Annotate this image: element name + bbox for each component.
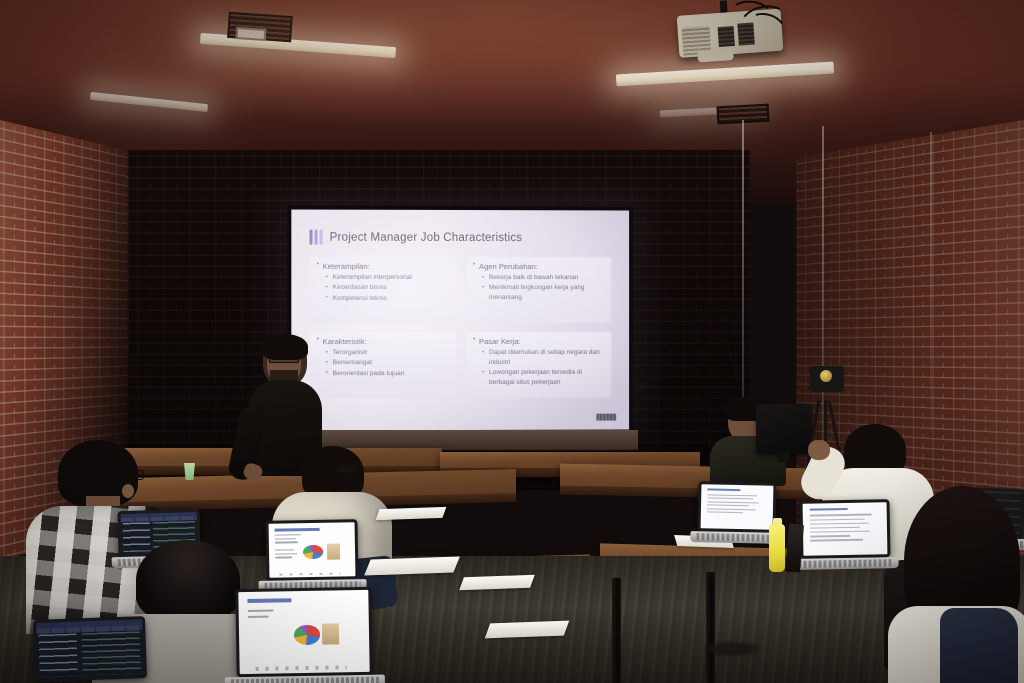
laptop-text-back-right[interactable] [697, 481, 776, 533]
stacked-papers [459, 575, 535, 590]
projector-lens-housing [697, 48, 734, 62]
slide-title: Project Manager Job Characteristics [330, 231, 523, 243]
yellow-drink-bottle [769, 524, 785, 572]
laptop-lid [800, 499, 891, 559]
slide-card-agen-perubahan: Agen Perubahan: Bekerja baik di bawah te… [466, 257, 611, 323]
card-bullet: Menikmati lingkungan kerja yang menantan… [482, 283, 604, 303]
card-bullet: Keterampilan interpersonal [326, 273, 449, 283]
card-heading: Agen Perubahan: [473, 262, 604, 271]
floor-cable [700, 640, 764, 658]
attendee-vest [940, 608, 1018, 683]
stacked-papers [364, 556, 460, 575]
wall-trim-line [930, 132, 932, 432]
classroom-photo: Project Manager Job Characteristics Kete… [0, 0, 1024, 683]
ceiling-mounted-projector [676, 0, 790, 66]
bottle-cap [773, 518, 782, 526]
card-bullet: Lowongan pekerjaan tersedia di berbagai … [482, 368, 604, 388]
laptop-lid [33, 616, 147, 682]
card-bullet: Terorganisir [326, 348, 449, 358]
card-bullet: Kecerdasan bisnis [326, 283, 449, 293]
attendee-long-hair [896, 486, 1024, 683]
table-leg [706, 572, 715, 683]
card-bullet: Dapat ditemukan di setiap negara dan ind… [482, 348, 604, 368]
attendee-hand [808, 440, 830, 460]
attendee-glasses [122, 470, 144, 480]
card-heading: Pasar Kerja: [473, 337, 604, 346]
laptop-code-editor-front[interactable] [33, 616, 147, 682]
laptop-screen [238, 590, 369, 674]
card-bullet-list: Terorganisir Bersemangat Berorientasi pa… [317, 348, 449, 378]
projection-screen: Project Manager Job Characteristics Kete… [287, 205, 633, 434]
slide-header: Project Manager Job Characteristics [309, 230, 613, 246]
laptop-lid [697, 481, 776, 533]
slide-card-pasar-kerja: Pasar Kerja: Dapat ditemukan di setiap n… [466, 332, 611, 398]
camera-lens-icon [820, 370, 832, 382]
laptop-screen [803, 502, 888, 555]
presenter-glasses [269, 356, 299, 363]
card-bullet: Kompetensi teknis [326, 293, 449, 303]
card-bullet: Bersemangat [326, 358, 449, 368]
laptop-text-right[interactable] [800, 499, 891, 559]
attendee-ear [122, 484, 134, 498]
slide-card-keterampilan: Keterampilan: Keterampilan interpersonal… [309, 257, 456, 323]
slide-card-karakteristik: Karakteristik: Terorganisir Bersemangat … [309, 332, 456, 398]
stacked-papers [376, 507, 447, 520]
table-leg [612, 578, 621, 683]
slide-card-grid: Keterampilan: Keterampilan interpersonal… [307, 257, 613, 399]
monitor-stand [778, 452, 790, 462]
slide-accent-bars-icon [309, 230, 322, 245]
card-bullet-list: Keterampilan interpersonal Kecerdasan bi… [317, 273, 449, 303]
card-heading: Keterampilan: [317, 262, 449, 271]
laptop-screen [701, 484, 774, 529]
projector-panel [718, 26, 735, 47]
small-device-on-desk [338, 466, 354, 473]
card-heading: Karakteristik: [317, 337, 449, 346]
laptop-keyboard-base[interactable] [792, 557, 898, 570]
laptop-document-front[interactable] [235, 587, 373, 677]
card-bullet: Berorientasi pada tujuan [326, 369, 449, 379]
card-bullet: Bekerja baik di bawah tekanan [482, 273, 604, 283]
card-bullet-list: Bekerja baik di bawah tekanan Menikmati … [473, 273, 604, 303]
attendee-hair [136, 540, 240, 620]
stacked-papers [485, 621, 569, 639]
slide-content: Project Manager Job Characteristics Kete… [291, 209, 629, 430]
laptop-lid [235, 587, 373, 677]
projected-slide: Project Manager Job Characteristics Kete… [291, 209, 629, 430]
slide-logo-watermark [596, 414, 616, 421]
laptop-screen [36, 619, 144, 679]
card-bullet-list: Dapat ditemukan di setiap negara dan ind… [473, 348, 604, 388]
